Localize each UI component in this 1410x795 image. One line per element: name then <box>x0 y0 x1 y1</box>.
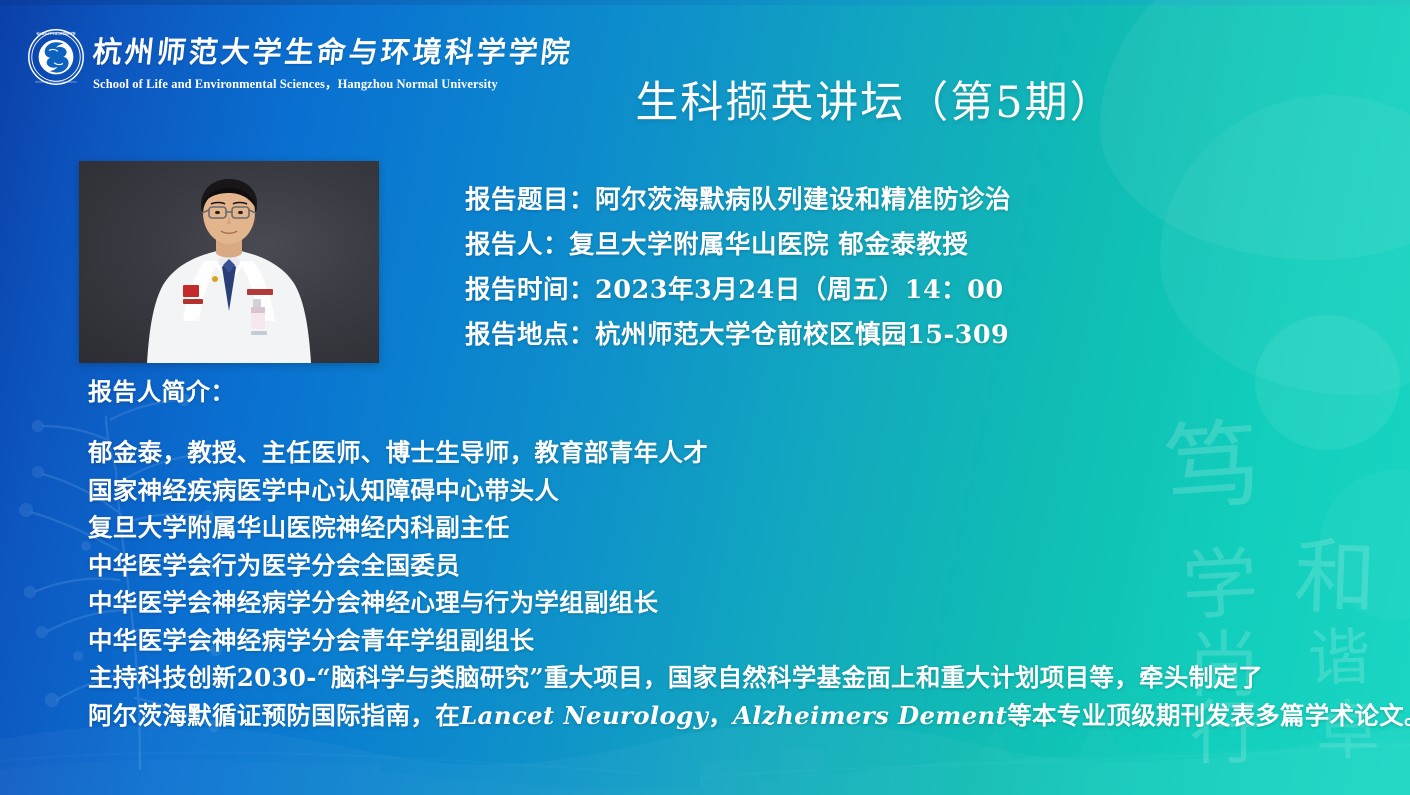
bio-line: 中华医学会神经病学分会神经心理与行为学组副组长 <box>88 584 1408 622</box>
lecture-topic-line: 报告题目：阿尔茨海默病队列建设和精准防诊治 <box>465 178 1011 223</box>
presentation-slide: 笃 学 和 尚 谐 行 卓 杭州师范大学生命与环境科学学院 <box>0 0 1410 795</box>
bio-paragraph-text-post: 等本专业顶级期刊发表多篇学术论文。 <box>1007 701 1410 730</box>
decorative-circle-shape <box>1255 315 1400 450</box>
journal-name-lancet-neurology: Lancet Neurology <box>460 701 708 730</box>
bio-line: 复旦大学附属华山医院神经内科副主任 <box>88 509 1408 547</box>
speaker-portrait <box>79 161 379 363</box>
lecture-speaker-line: 报告人：复旦大学附属华山医院 郁金泰教授 <box>465 223 1011 268</box>
decorative-blob-shape <box>1160 95 1410 395</box>
bio-paragraph-text-pre: 阿尔茨海默循证预防国际指南，在 <box>88 701 460 730</box>
bio-line: 国家神经疾病医学中心认知障碍中心带头人 <box>88 472 1408 510</box>
speaker-bio-block: 郁金泰，教授、主任医师、博士生导师，教育部青年人才 国家神经疾病医学中心认知障碍… <box>88 434 1408 734</box>
page-title: 生科撷英讲坛（第5期） <box>0 68 1410 130</box>
bio-paragraph-line-2: 阿尔茨海默循证预防国际指南，在Lancet Neurology，Alzheime… <box>88 697 1408 735</box>
svg-text:杭州师范大学生命与环境科学学院: 杭州师范大学生命与环境科学学院 <box>37 32 76 36</box>
lecture-place-line: 报告地点：杭州师范大学仓前校区慎园15-309 <box>465 313 1011 358</box>
speaker-bio-heading: 报告人简介： <box>88 372 235 407</box>
bio-paragraph-line-1: 主持科技创新2030-“脑科学与类脑研究”重大项目，国家自然科学基金面上和重大计… <box>88 659 1408 697</box>
decorative-blob-shape <box>1100 0 1410 260</box>
lecture-time-line: 报告时间：2023年3月24日（周五）14：00 <box>465 268 1011 313</box>
portrait-figure-icon <box>79 161 379 363</box>
bio-line: 中华医学会神经病学分会青年学组副组长 <box>88 622 1408 660</box>
school-name-chinese: 杭州师范大学生命与环境科学学院 <box>91 29 575 71</box>
lecture-info-block: 报告题目：阿尔茨海默病队列建设和精准防诊治 报告人：复旦大学附属华山医院 郁金泰… <box>465 178 1011 358</box>
bio-paragraph-separator: ， <box>708 701 733 730</box>
top-accent-band <box>0 0 1410 5</box>
journal-name-alzheimers-dement: Alzheimers Dement <box>733 701 1007 730</box>
bio-line: 中华医学会行为医学分会全国委员 <box>88 547 1408 585</box>
bio-line: 郁金泰，教授、主任医师、博士生导师，教育部青年人才 <box>88 434 1408 472</box>
